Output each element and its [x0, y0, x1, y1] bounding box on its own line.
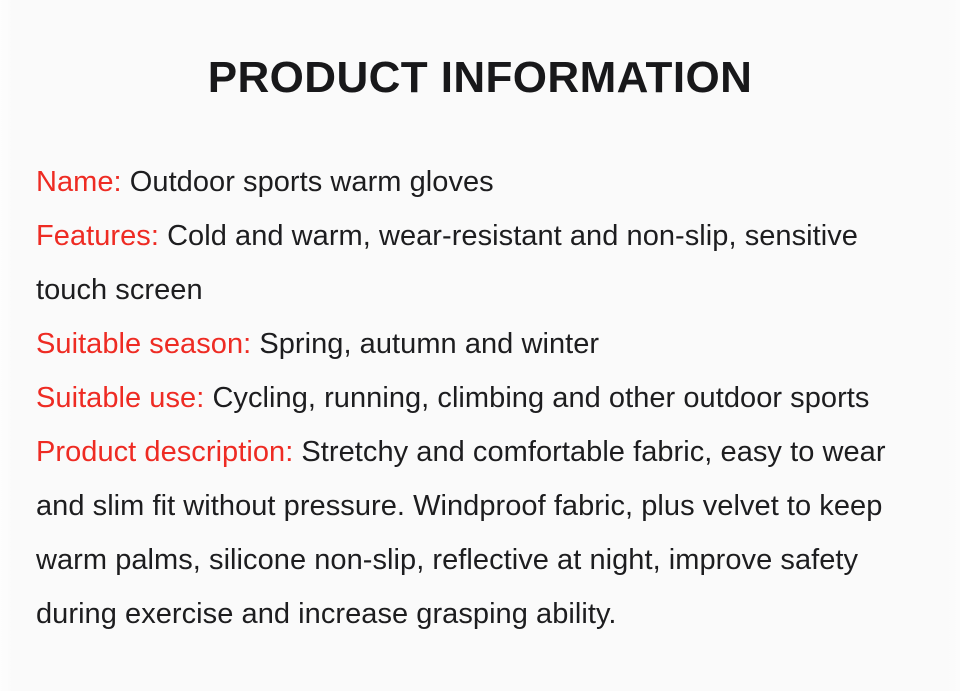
spec-row-suitable-use: Suitable use: Cycling, running, climbing… — [36, 371, 936, 425]
spec-label-suitable-use: Suitable use: — [36, 382, 212, 414]
spec-value-name: Outdoor sports warm gloves — [130, 166, 494, 198]
spec-label-product-description: Product description: — [36, 436, 301, 468]
spec-label-suitable-season: Suitable season: — [36, 328, 259, 360]
spec-label-features: Features: — [36, 220, 167, 252]
spec-value-product-description-line-2: and slim fit without pressure. Windproof… — [36, 479, 936, 533]
product-information-panel: PRODUCT INFORMATION Name: Outdoor sports… — [0, 0, 960, 691]
spec-label-name: Name: — [36, 166, 130, 198]
spec-value-suitable-season: Spring, autumn and winter — [259, 328, 599, 360]
spec-row-suitable-season: Suitable season: Spring, autumn and wint… — [36, 317, 936, 371]
spec-row-name: Name: Outdoor sports warm gloves — [36, 155, 936, 209]
spec-value-features: Cold and warm, wear-resistant and non-sl… — [167, 220, 858, 252]
spec-row-product-description: Product description: Stretchy and comfor… — [36, 425, 936, 479]
spec-value-product-description: Stretchy and comfortable fabric, easy to… — [301, 436, 885, 468]
page-title: PRODUCT INFORMATION — [0, 52, 960, 104]
spec-value-features-line-2: touch screen — [36, 263, 936, 317]
specification-list: Name: Outdoor sports warm gloves Feature… — [36, 155, 936, 641]
spec-row-features: Features: Cold and warm, wear-resistant … — [36, 209, 936, 263]
spec-value-product-description-line-3: warm palms, silicone non-slip, reflectiv… — [36, 533, 936, 587]
spec-value-suitable-use: Cycling, running, climbing and other out… — [212, 382, 869, 414]
spec-value-product-description-line-4: during exercise and increase grasping ab… — [36, 587, 936, 641]
